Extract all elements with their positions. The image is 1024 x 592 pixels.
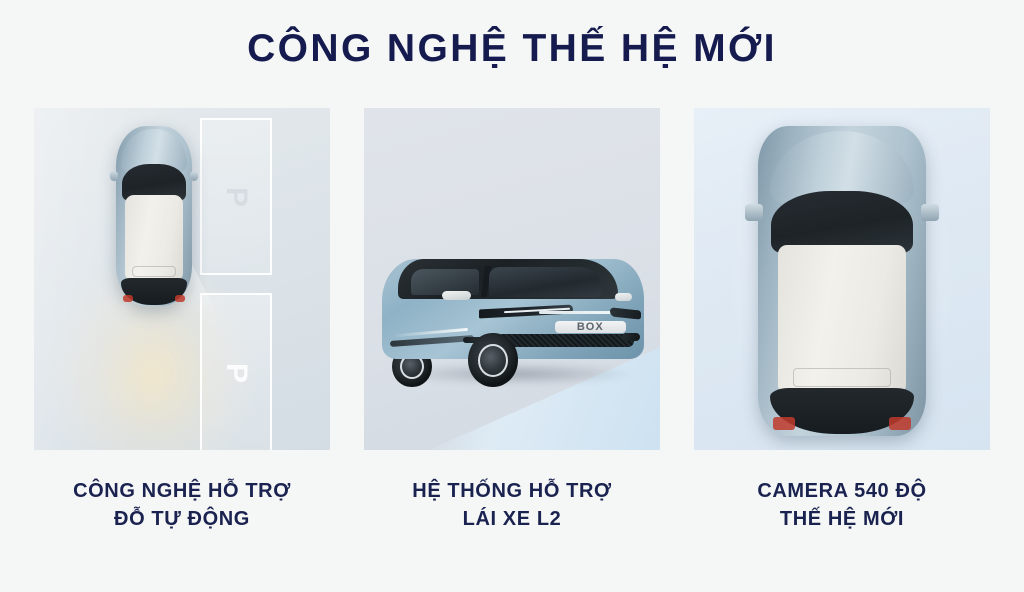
mirror-left	[442, 291, 471, 299]
caption-l2-driver-assist: HỆ THỐNG HỖ TRỢ LÁI XE L2	[364, 477, 660, 534]
mirror-left	[110, 171, 118, 181]
air-vent-right	[622, 333, 640, 341]
license-plate: BOX	[555, 321, 626, 333]
caption-camera-540: CAMERA 540 ĐỘ THẾ HỆ MỚI	[694, 477, 990, 534]
headlight-right	[610, 307, 641, 319]
taillight-right	[175, 295, 185, 302]
car-top-view	[758, 126, 926, 436]
license-plate-text: BOX	[577, 321, 604, 333]
panel-l2-driver-assist[interactable]: BOX	[364, 108, 660, 450]
taillight-left	[773, 417, 795, 429]
mirror-right	[921, 204, 939, 221]
mirror-right	[615, 293, 632, 300]
windshield	[771, 191, 912, 253]
page-title: CÔNG NGHỆ THẾ HỆ MỚI	[0, 28, 1024, 71]
car-front-three-quarter: BOX	[382, 221, 644, 381]
parking-p-icon: P	[221, 186, 251, 206]
mirror-left	[745, 204, 763, 221]
caption-line-1: HỆ THỐNG HỖ TRỢ	[364, 477, 660, 505]
caption-line-2: LÁI XE L2	[364, 505, 660, 533]
car-roof	[125, 195, 183, 281]
caption-row: CÔNG NGHỆ HỖ TRỢ ĐỖ TỰ ĐỘNG HỆ THỐNG HỖ …	[34, 477, 990, 534]
panel-auto-parking[interactable]: P P	[34, 108, 330, 450]
front-grille	[497, 334, 633, 347]
caption-line-1: CÔNG NGHỆ HỖ TRỢ	[34, 477, 330, 505]
parking-p-icon: P	[221, 363, 251, 383]
panel-camera-540[interactable]	[694, 108, 990, 450]
mirror-right	[190, 171, 198, 181]
parking-slot-2: P	[200, 293, 272, 450]
car-roof	[778, 245, 906, 394]
parking-slot-1: P	[200, 118, 272, 275]
taillight-left	[123, 295, 133, 302]
caption-line-2: THẾ HỆ MỚI	[694, 505, 990, 533]
feature-panel-row: P P	[34, 108, 990, 450]
taillight-right	[889, 417, 911, 429]
car-top-view	[116, 126, 192, 306]
caption-auto-parking: CÔNG NGHỆ HỖ TRỢ ĐỖ TỰ ĐỘNG	[34, 477, 330, 534]
caption-line-2: ĐỖ TỰ ĐỘNG	[34, 505, 330, 533]
windshield	[489, 267, 602, 297]
side-sill	[390, 335, 474, 347]
caption-line-1: CAMERA 540 ĐỘ	[694, 477, 990, 505]
